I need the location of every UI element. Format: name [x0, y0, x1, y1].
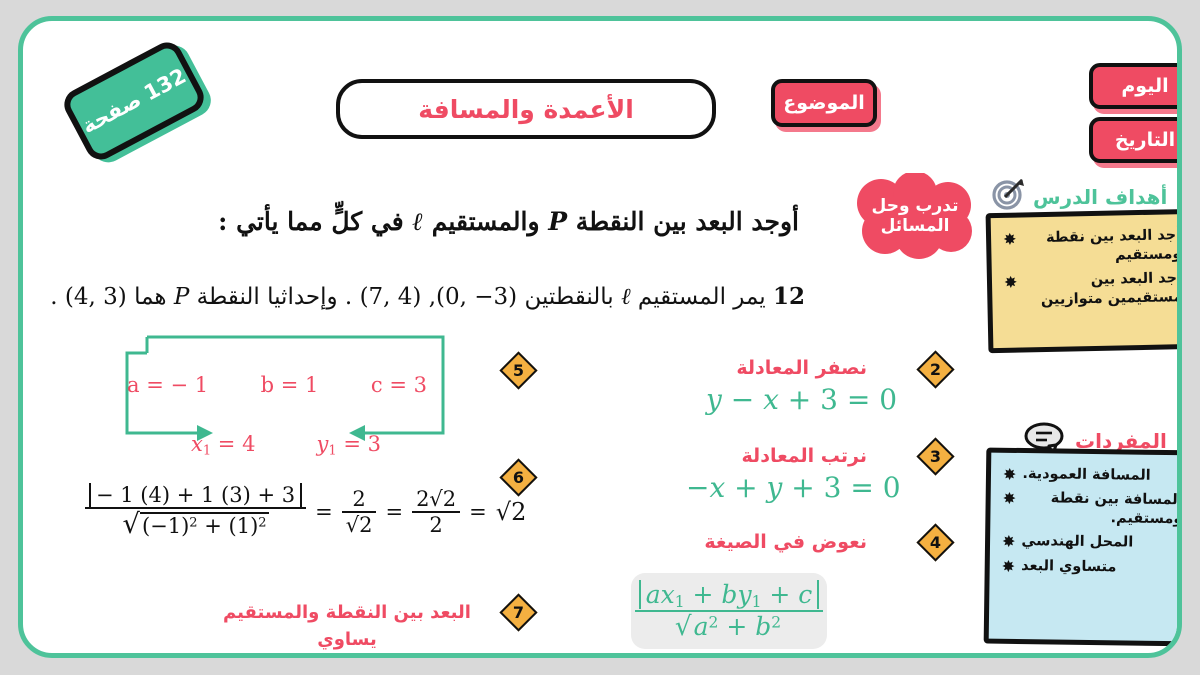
step-number: 7	[507, 601, 530, 624]
fraction-2-over-root2: 2 √2	[342, 487, 377, 537]
step-number: 4	[924, 531, 947, 554]
problem-text-1: يمر المستقيم	[638, 284, 766, 310]
step-number: 2	[924, 358, 947, 381]
instruction-line-l: ℓ	[412, 207, 423, 236]
goals-heading-label: أهداف الدرس	[1033, 185, 1167, 209]
vocab-note: المسافة العمودية. ✸ المسافة بين نقطة ومس…	[984, 448, 1182, 647]
calculation-row: − 1 (4) + 1 (3) + 3 √(−1)2 + (1)2 = 2 √2…	[85, 483, 526, 540]
step-diamond-5: 5	[499, 351, 537, 389]
page-number: 132	[140, 64, 190, 106]
star-icon: ✸	[1003, 489, 1017, 508]
problem-line-symbol: ℓ	[621, 284, 631, 310]
value-c: c = 3	[371, 373, 427, 397]
problem-points: (7, 4) ,(0, −3)	[360, 284, 518, 310]
equals-3: =	[469, 500, 487, 524]
page-title: الأعمدة والمسافة	[418, 95, 634, 124]
value-x1: x1 = 4	[191, 432, 255, 458]
cloud-line-1: تدرب وحل	[872, 196, 959, 216]
problem-p-coords: (4, 3)	[65, 284, 127, 310]
star-icon: ✸	[1002, 556, 1016, 575]
frac2-den: √2	[342, 513, 377, 537]
goal-text: أجد البعد بين نقطة ومستقيم	[1022, 226, 1181, 268]
goals-note: أجد البعد بين نقطة ومستقيم ✸ أجد البعد ب…	[986, 209, 1182, 353]
distance-formula: ax1 + by1 + c √a2 + b2	[635, 580, 824, 643]
substituted-fraction: − 1 (4) + 1 (3) + 3 √(−1)2 + (1)2	[85, 483, 306, 540]
list-item: متساوي البعد ✸	[1002, 556, 1182, 578]
step-diamond-7: 7	[499, 593, 537, 631]
lesson-title-pill: الأعمدة والمسافة	[336, 79, 716, 139]
calc-denominator: (−1)2 + (1)2	[140, 512, 269, 538]
step-number: 3	[924, 445, 947, 468]
vocab-text: المسافة بين نقطة ومستقيم.	[1022, 489, 1182, 529]
vocab-text: متساوي البعد	[1021, 557, 1117, 577]
list-item: المحل الهندسي ✸	[1002, 532, 1182, 554]
vocab-text: المسافة العمودية.	[1022, 465, 1151, 486]
step-label-3: نرتب المعادلة	[742, 445, 867, 467]
list-item: أجد البعد بين مستقيمين متوازيين ✸	[1004, 269, 1182, 311]
practice-cloud-badge: تدرب وحل المسائل	[853, 173, 977, 259]
answer-value: √2	[359, 653, 386, 658]
step-label-4: نعوض في الصيغة	[704, 531, 867, 553]
list-item: المسافة بين نقطة ومستقيم. ✸	[1002, 489, 1182, 530]
topic-chip-label: الموضوع	[783, 92, 865, 114]
problem-item-12: 12 يمر المستقيم ℓ بالنقطتين (7, 4) ,(0, …	[50, 283, 805, 310]
frac2-num: 2	[342, 487, 377, 513]
topic-chip: الموضوع	[771, 79, 877, 127]
date-chip[interactable]: التاريخ	[1089, 117, 1182, 163]
coefficient-values: a = − 1 b = 1 c = 3	[127, 373, 427, 397]
problem-instruction: أوجد البعد بين النقطة P والمستقيم ℓ في ك…	[218, 207, 799, 237]
frac3-den: 2	[412, 513, 460, 537]
cloud-line-2: المسائل	[881, 216, 950, 236]
day-chip-label: اليوم	[1121, 75, 1168, 97]
problem-number: 12	[773, 283, 805, 310]
value-b: b = 1	[261, 373, 319, 397]
vocab-list: المسافة العمودية. ✸ المسافة بين نقطة ومس…	[1002, 465, 1182, 578]
problem-text-2: بالنقطتين	[524, 284, 613, 310]
calc-numerator: − 1 (4) + 1 (3) + 3	[89, 483, 302, 507]
problem-text-4: هما	[134, 284, 166, 310]
step-equation-3: −x + y + 3 = 0	[686, 471, 901, 504]
goals-list: أجد البعد بين نقطة ومستقيم ✸ أجد البعد ب…	[1003, 226, 1182, 311]
answer-text: البعد بين النقطة والمستقيم يساوي	[223, 602, 471, 650]
list-item: المسافة العمودية. ✸	[1003, 465, 1182, 487]
step-label-2: نصفر المعادلة	[736, 357, 867, 379]
star-icon: ✸	[1004, 273, 1018, 292]
step-number: 5	[507, 359, 530, 382]
day-chip[interactable]: اليوم	[1089, 63, 1182, 109]
point-values: x1 = 4 y1 = 3	[191, 433, 381, 457]
instruction-part-3: في كلٍّ مما يأتي :	[218, 207, 404, 236]
equals-2: =	[385, 500, 403, 524]
star-icon: ✸	[1003, 230, 1017, 249]
step-equation-2: y − x + 3 = 0	[706, 383, 897, 416]
calc-result: √2	[496, 498, 527, 526]
list-item: أجد البعد بين نقطة ومستقيم ✸	[1003, 226, 1182, 268]
problem-text-3: . وإحداثيا النقطة	[197, 284, 353, 310]
date-chip-label: التاريخ	[1115, 129, 1175, 151]
equals-1: =	[315, 500, 333, 524]
slide-canvas: 132 صفحة الأعمدة والمسافة الموضوع اليوم …	[18, 16, 1182, 658]
problem-point-p: P	[174, 284, 189, 310]
star-icon: ✸	[1003, 465, 1017, 484]
step-diamond-4: 4	[916, 523, 954, 561]
distance-formula-box: ax1 + by1 + c √a2 + b2	[631, 573, 827, 649]
instruction-part-2: والمستقيم	[432, 207, 540, 236]
fraction-2root2-over-2: 2√2 2	[412, 487, 460, 537]
star-icon: ✸	[1002, 532, 1016, 551]
goal-text: أجد البعد بين مستقيمين متوازيين	[1023, 269, 1182, 311]
step-diamond-2: 2	[916, 350, 954, 388]
problem-text-5: .	[50, 284, 57, 310]
final-answer: البعد بين النقطة والمستقيم يساوي √2 وحدة	[197, 599, 497, 658]
target-icon	[991, 177, 1025, 216]
instruction-part-1: أوجد البعد بين النقطة	[576, 207, 799, 236]
page-label: صفحة	[78, 87, 145, 138]
step-diamond-3: 3	[916, 437, 954, 475]
page-number-badge: 132 صفحة	[59, 37, 209, 165]
value-y1: y1 = 3	[317, 432, 381, 458]
instruction-point-p: P	[548, 207, 567, 236]
frac3-num: 2√2	[412, 487, 460, 513]
vocab-text: المحل الهندسي	[1021, 532, 1133, 553]
value-a: a = − 1	[127, 373, 208, 397]
